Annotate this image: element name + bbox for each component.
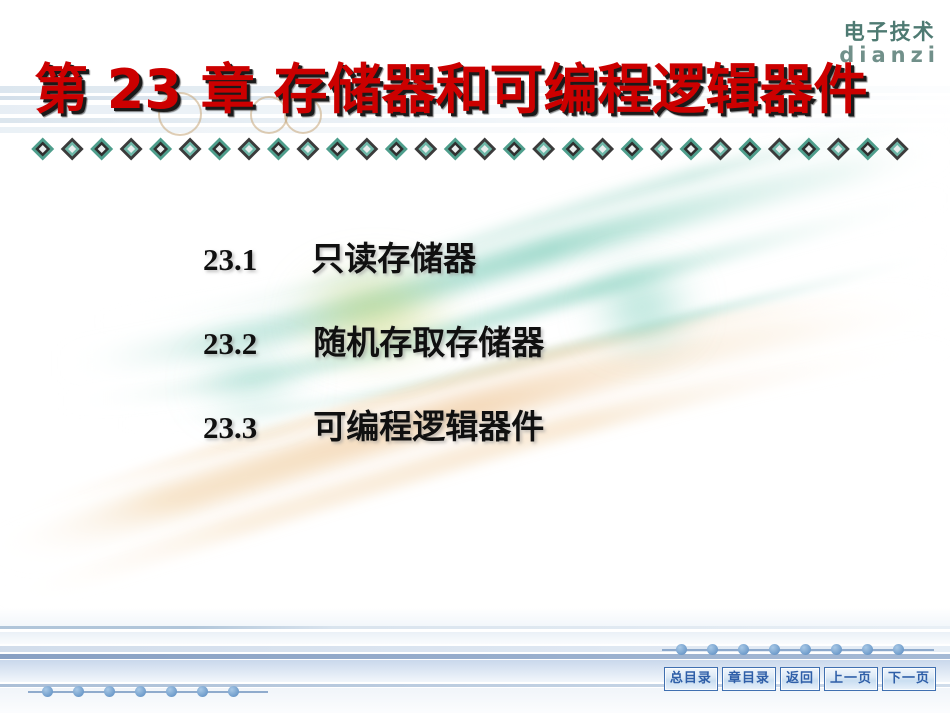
- nav-button-chapter-contents[interactable]: 章目录: [722, 667, 776, 691]
- footer-dot-line-right: [662, 649, 934, 651]
- footer-dot: [800, 644, 811, 655]
- footer-dot: [166, 686, 177, 697]
- nav-button-next-page[interactable]: 下一页: [882, 667, 936, 691]
- contents-item-2-number: 23.2: [203, 326, 257, 362]
- diamond-divider-svg: [28, 136, 912, 162]
- footer-dot: [676, 644, 687, 655]
- contents-item-1-label: 只读存储器: [311, 232, 476, 280]
- footer-dot: [893, 644, 904, 655]
- footer-dot: [228, 686, 239, 697]
- footer-dot: [42, 686, 53, 697]
- chapter-contents-list: 23.1 只读存储器 23.2 随机存取存储器 23.3 可编程逻辑器件: [0, 232, 950, 448]
- footer-dot: [831, 644, 842, 655]
- footer-dot: [862, 644, 873, 655]
- footer-dot: [738, 644, 749, 655]
- contents-item-3-number: 23.3: [203, 410, 257, 446]
- logo-chinese-text: 电子技术: [839, 22, 940, 43]
- contents-item-2[interactable]: 23.2 随机存取存储器: [203, 316, 950, 364]
- nav-button-previous-page[interactable]: 上一页: [824, 667, 878, 691]
- contents-item-3-label: 可编程逻辑器件: [313, 400, 544, 448]
- footer-dot: [135, 686, 146, 697]
- slide-canvas: 电子技术 dianzi 第 23 章 存储器和可编程逻辑器件 23.1 只读存储…: [0, 0, 950, 713]
- contents-item-1[interactable]: 23.1 只读存储器: [203, 232, 950, 280]
- footer-dot: [707, 644, 718, 655]
- footer-dot: [197, 686, 208, 697]
- diamond-divider: [28, 136, 912, 162]
- footer-dot: [104, 686, 115, 697]
- footer-dot-line-left: [28, 691, 268, 693]
- nav-button-return[interactable]: 返回: [780, 667, 820, 691]
- contents-item-2-label: 随机存取存储器: [313, 316, 544, 364]
- contents-item-3[interactable]: 23.3 可编程逻辑器件: [203, 400, 950, 448]
- footer-dot: [73, 686, 84, 697]
- nav-button-main-contents[interactable]: 总目录: [664, 667, 718, 691]
- navigation-bar: 总目录 章目录 返回 上一页 下一页: [664, 667, 936, 691]
- contents-item-1-number: 23.1: [203, 242, 257, 278]
- footer-dot: [769, 644, 780, 655]
- footer-decoration: [0, 608, 950, 713]
- slide-title: 第 23 章 存储器和可编程逻辑器件: [34, 62, 924, 119]
